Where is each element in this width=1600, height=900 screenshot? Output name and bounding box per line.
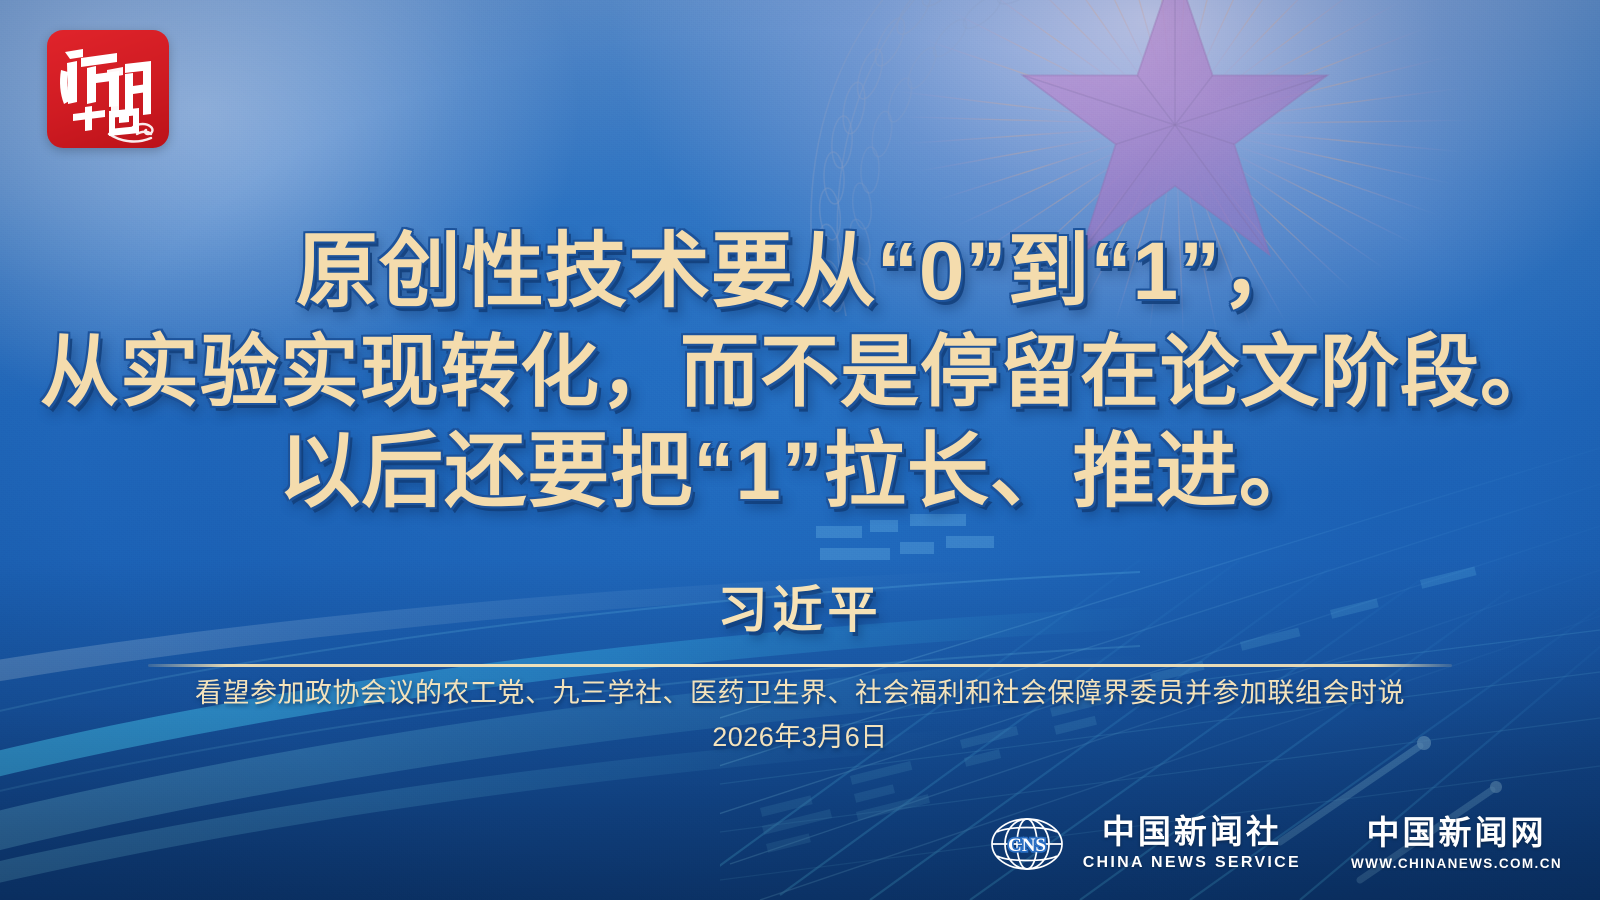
chinanews-name-cn: 中国新闻网 xyxy=(1367,817,1547,853)
quote-line-3: 以后还要把“1”拉长、推进。 xyxy=(0,422,1600,522)
chinanews-url: WWW.CHINANEWS.COM.CN xyxy=(1351,856,1562,871)
quote-line-1: 原创性技术要从“0”到“1”， xyxy=(0,222,1600,322)
svg-text:CNS: CNS xyxy=(1008,835,1046,856)
caption-occasion: 看望参加政协会议的农工党、九三学社、医药卫生界、社会福利和社会保障界委员并参加联… xyxy=(195,678,1405,708)
chinanews-website-brand[interactable]: 中国新闻网 WWW.CHINANEWS.COM.CN xyxy=(1351,817,1562,871)
cns-globe-icon: CNS xyxy=(989,812,1065,876)
divider-rule xyxy=(148,664,1452,667)
footer-brand-bar: CNS 中国新闻社 CHINA NEWS SERVICE 中国新闻网 WWW.C… xyxy=(989,812,1562,876)
cns-name-cn: 中国新闻社 xyxy=(1102,816,1282,852)
quote-speaker: 习近平 xyxy=(0,570,1600,642)
cns-name-en: CHINA NEWS SERVICE xyxy=(1083,854,1301,872)
poster-canvas: 原创性技术要从“0”到“1”， 从实验实现转化，而不是停留在论文阶段。 以后还要… xyxy=(0,0,1600,900)
caption-date: 2026年3月6日 xyxy=(0,716,1600,758)
caption-block: 看望参加政协会议的农工党、九三学社、医药卫生界、社会福利和社会保障界委员并参加联… xyxy=(0,672,1600,758)
china-news-service-brand: 中国新闻社 CHINA NEWS SERVICE xyxy=(1083,816,1301,873)
quote-line-2: 从实验实现转化，而不是停留在论文阶段。 xyxy=(0,322,1600,422)
jinguan-zhongguo-logo[interactable] xyxy=(47,30,169,148)
quote-block: 原创性技术要从“0”到“1”， 从实验实现转化，而不是停留在论文阶段。 以后还要… xyxy=(0,222,1600,522)
